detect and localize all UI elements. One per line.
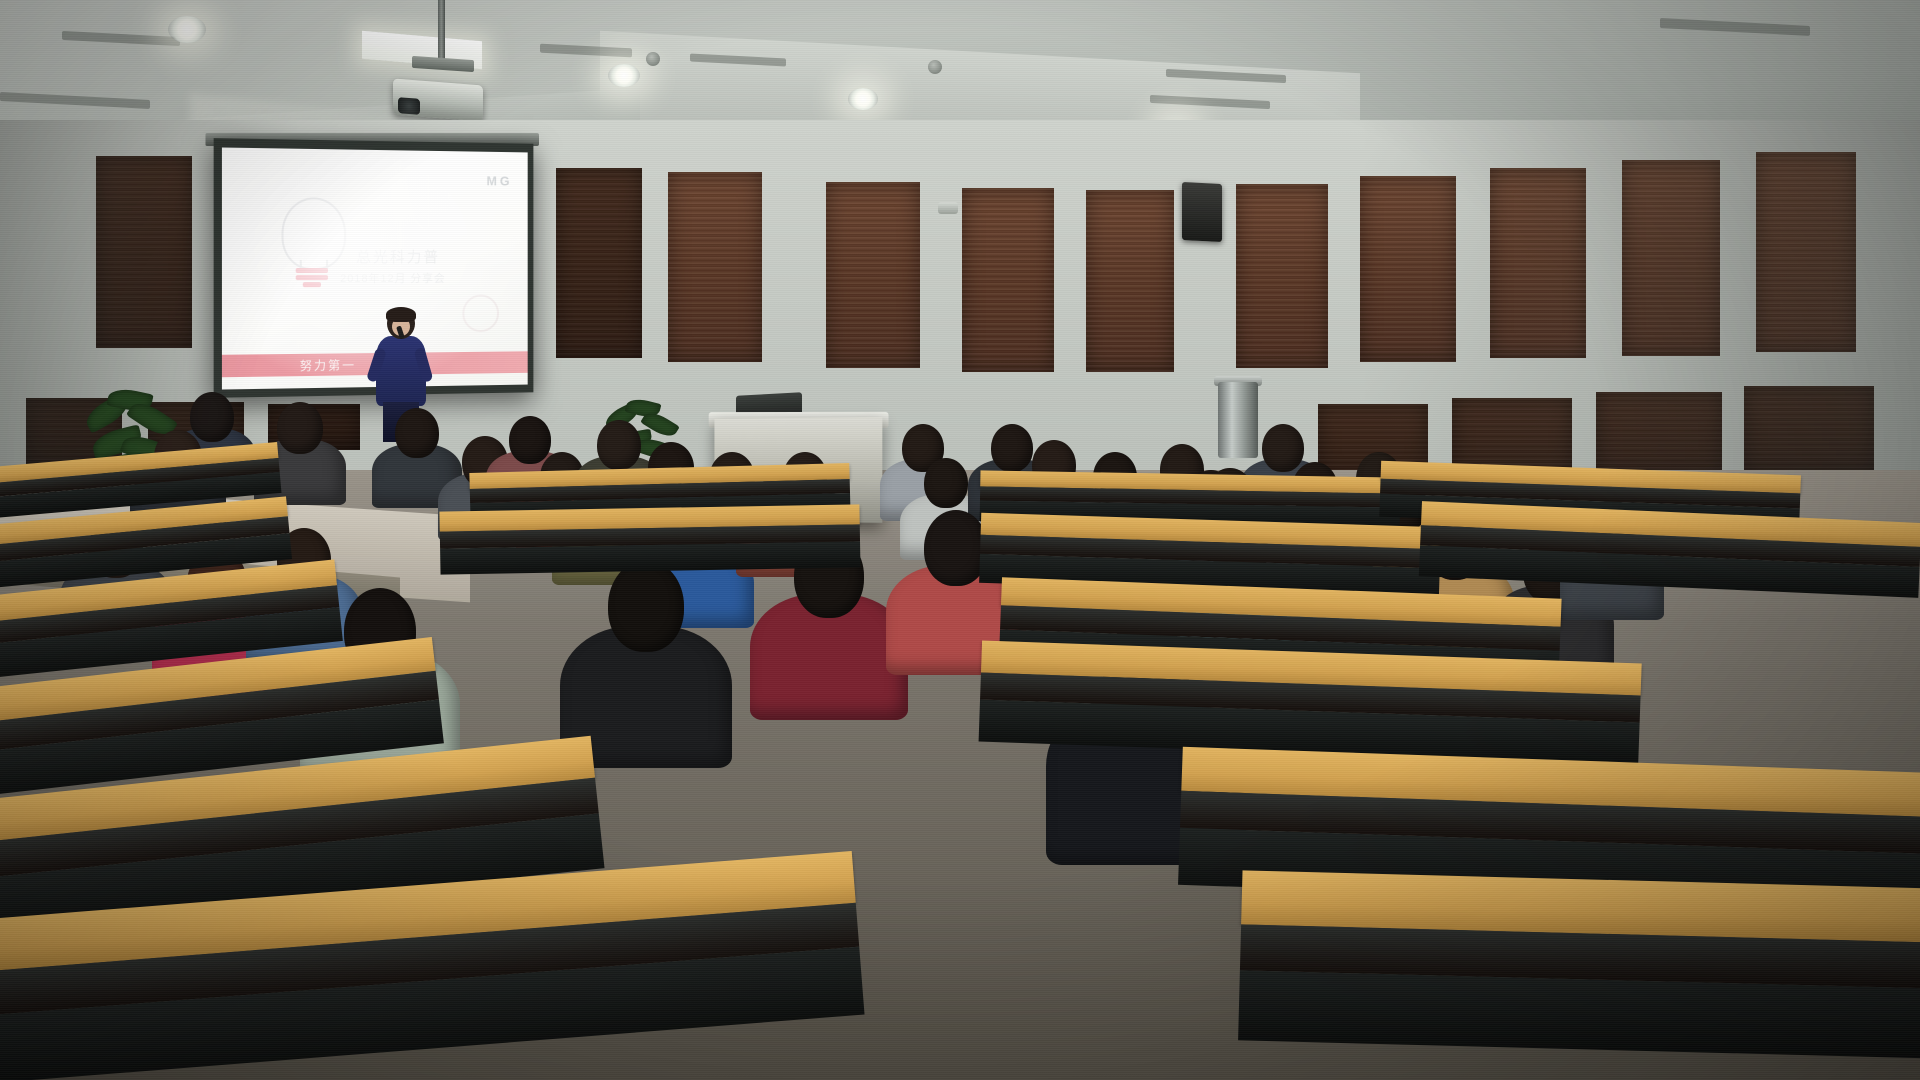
audience-member-head	[924, 458, 968, 508]
lightbulb-base-icon	[296, 268, 328, 290]
wood-wall-panel	[668, 172, 762, 362]
desk-row	[1238, 870, 1920, 1073]
smoke-detector-icon	[938, 202, 958, 214]
wood-wall-panel	[1236, 184, 1328, 368]
slide-circle-mark-icon	[462, 295, 499, 333]
desk-row	[439, 504, 860, 579]
lecture-hall-photo: MG 总光科力普 2018年12月 分享会 努力第一	[0, 0, 1920, 1080]
wood-wall-panel	[962, 188, 1054, 372]
ceiling-downlight	[168, 16, 206, 43]
projector-mount-rod	[438, 0, 445, 64]
wall-speaker-box	[1182, 182, 1222, 242]
lightbulb-icon	[275, 197, 348, 290]
audience-member-head	[277, 402, 323, 454]
ceiling-vent	[1660, 18, 1810, 36]
slide-footer-text: 努力第一	[300, 356, 356, 374]
sprinkler-head-icon	[928, 60, 942, 74]
slide-title: 总光科力普	[356, 246, 440, 267]
wood-wall-panel	[556, 168, 642, 358]
slide-subtitle: 2018年12月 分享会	[340, 270, 446, 286]
slide-brand-logo: MG	[487, 173, 513, 188]
ceiling-downlight	[848, 88, 878, 110]
ceiling-vent	[0, 92, 150, 109]
audience-member-head	[395, 408, 439, 458]
presenter-hair	[386, 307, 416, 322]
ceiling-vent	[62, 31, 180, 46]
ceiling-downlight	[608, 64, 640, 87]
projector-lens-icon	[398, 97, 420, 115]
wood-wall-panel	[1086, 190, 1174, 372]
sprinkler-head-icon	[646, 52, 660, 66]
wood-wall-panel	[826, 182, 920, 368]
